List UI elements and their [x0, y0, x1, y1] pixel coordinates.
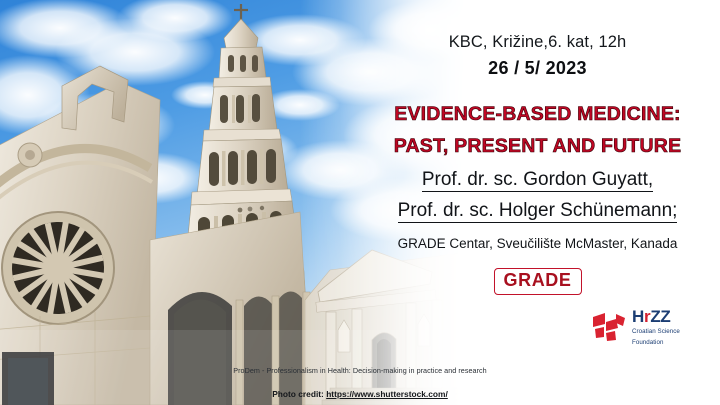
- hrzz-subtitle-line-2: Foundation: [632, 339, 680, 347]
- speaker-name-1: Prof. dr. sc. Gordon Guyatt,: [355, 169, 720, 191]
- photo-credit-label: Photo credit:: [272, 389, 326, 399]
- date-line: 26 / 5/ 2023: [355, 58, 720, 79]
- speaker-name-1-text: Prof. dr. sc. Gordon Guyatt,: [422, 169, 653, 192]
- hrzz-logo: HrZZ Croatian Science Foundation: [592, 306, 710, 348]
- hrzz-mark-icon: [592, 310, 626, 344]
- hrzz-letter-h: H: [632, 307, 644, 326]
- speaker-affiliation: GRADE Centar, Sveučilište McMaster, Kana…: [355, 236, 720, 251]
- lecture-title-line-1: EVIDENCE-BASED MEDICINE:: [355, 103, 720, 126]
- lecture-title-line-2: PAST, PRESENT AND FUTURE: [355, 135, 720, 158]
- hrzz-subtitle-line-1: Croatian Science: [632, 328, 680, 336]
- hrzz-wordmark: HrZZ Croatian Science Foundation: [632, 307, 680, 347]
- event-poster: KBC, Križine,6. kat, 12h 26 / 5/ 2023 EV…: [0, 0, 720, 405]
- grade-logo: GRADE: [493, 268, 581, 295]
- hrzz-letter-zz: ZZ: [650, 307, 670, 326]
- project-line: ProDem - Professionalism in Health: Deci…: [0, 366, 720, 375]
- speaker-name-2: Prof. dr. sc. Holger Schünemann;: [355, 200, 720, 222]
- speaker-name-2-text: Prof. dr. sc. Holger Schünemann;: [398, 200, 678, 223]
- photo-credit-line: Photo credit: https://www.shutterstock.c…: [0, 389, 720, 399]
- venue-line: KBC, Križine,6. kat, 12h: [355, 33, 720, 52]
- hrzz-wordmark-text: HrZZ: [632, 307, 670, 326]
- photo-credit-url[interactable]: https://www.shutterstock.com/: [326, 389, 448, 399]
